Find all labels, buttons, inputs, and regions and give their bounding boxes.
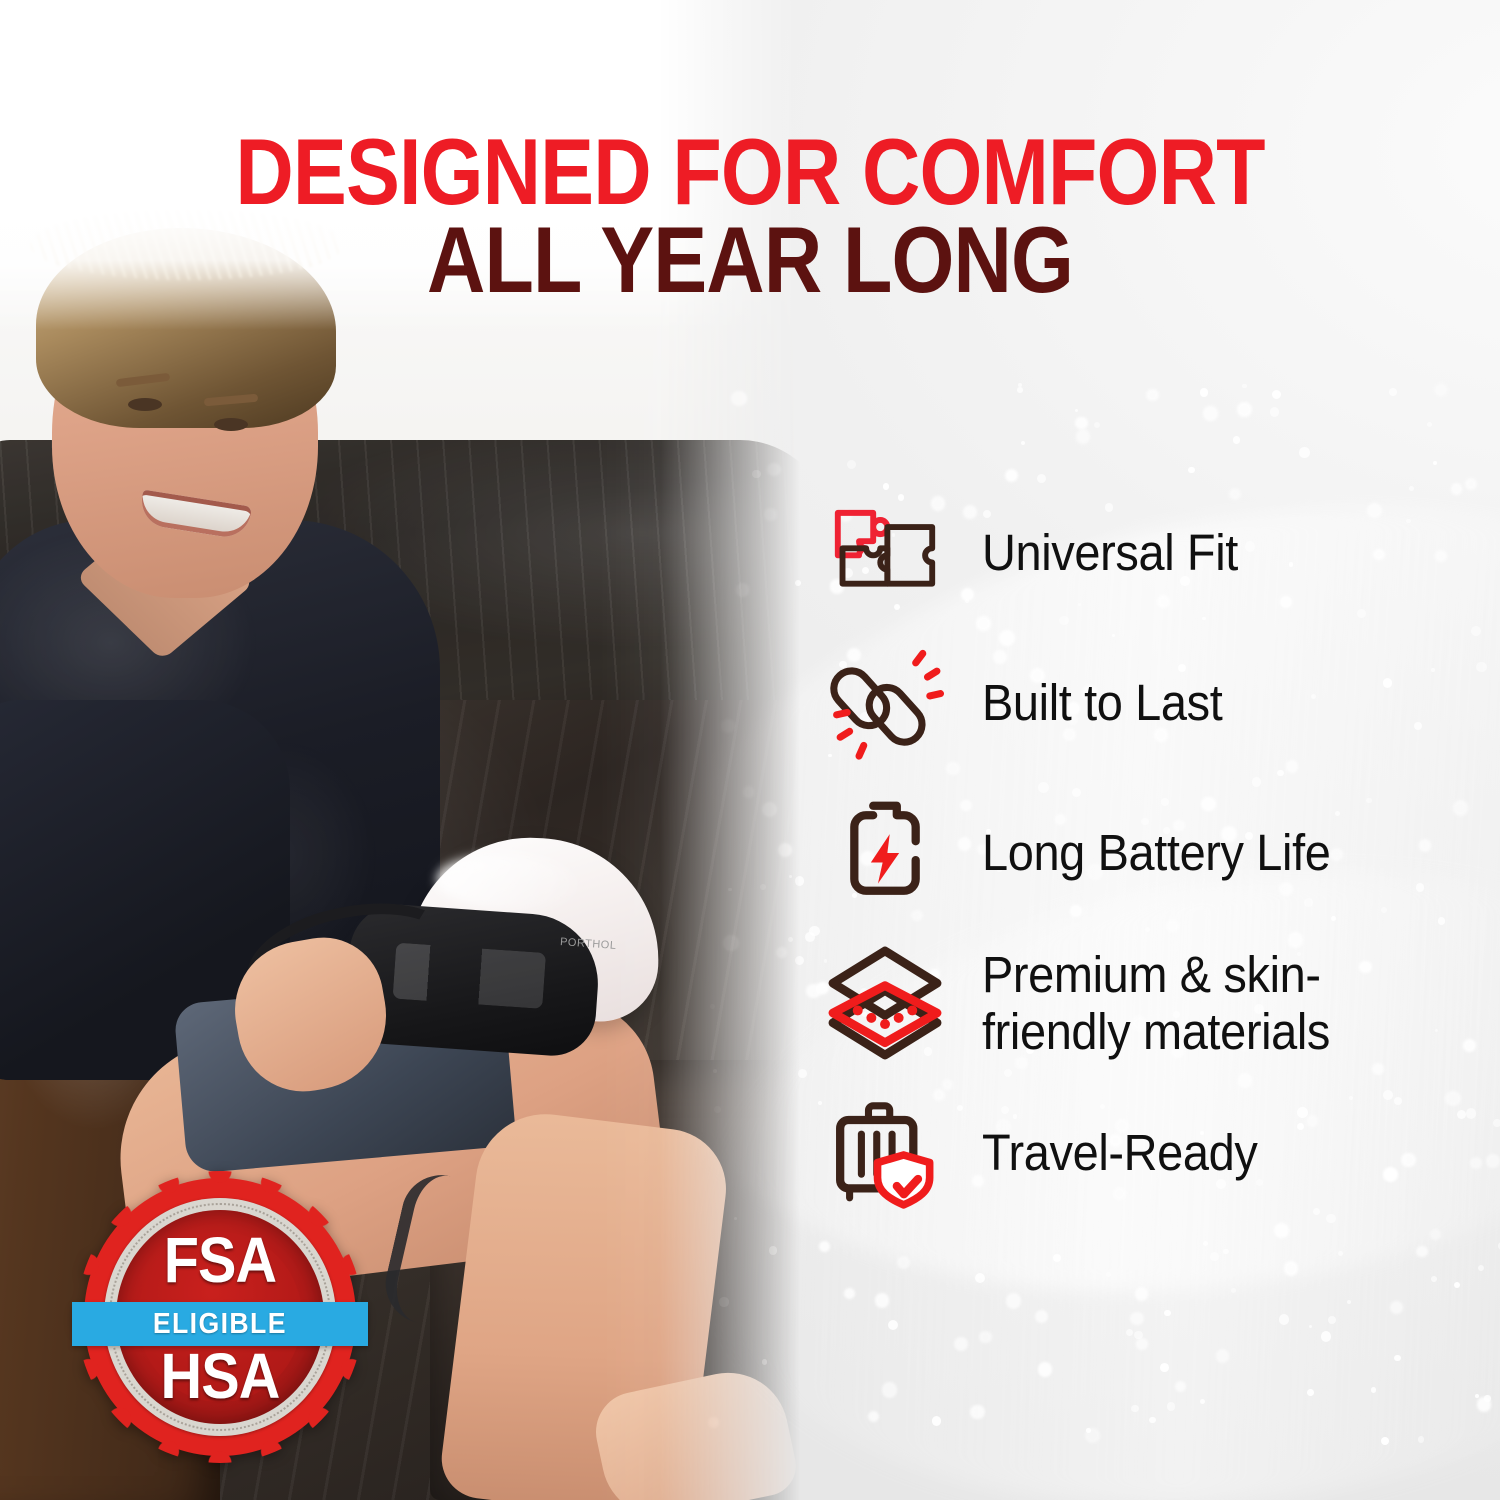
feature-item: Built to Last [820,628,1460,778]
feature-label: Travel-Ready [982,1124,1257,1181]
battery-icon [820,788,950,918]
suitcase-shield-icon [820,1088,950,1218]
model-eye-left [128,398,162,411]
feature-item: Universal Fit [820,478,1460,628]
feature-label: Built to Last [982,674,1222,731]
feature-item: Travel-Ready [820,1078,1460,1228]
badge-eligible-band: ELIGIBLE [72,1302,368,1346]
feature-list: Universal Fit [820,478,1460,1228]
feature-label: Universal Fit [982,524,1238,581]
model-eye-right [214,418,248,431]
badge-fsa-text: FSA [98,1228,343,1292]
product-feature-card: PORTHOL DESIGNED FOR COMFORT ALL YEAR LO… [0,0,1500,1500]
puzzle-icon [820,488,950,618]
fsa-hsa-eligible-badge: FSA HSA ELIGIBLE [84,1178,356,1456]
chain-icon [820,638,950,768]
badge-eligible-text: ELIGIBLE [153,1308,287,1341]
feature-item: Premium & skin- friendly materials [820,928,1460,1078]
feature-label: Premium & skin- friendly materials [982,946,1330,1060]
headline-line-1: DESIGNED FOR COMFORT [105,128,1395,216]
feature-label: Long Battery Life [982,824,1330,881]
badge-hsa-text: HSA [98,1344,343,1408]
headline-line-2: ALL YEAR LONG [105,216,1395,304]
layers-icon [820,938,950,1068]
headline: DESIGNED FOR COMFORT ALL YEAR LONG [0,128,1500,305]
feature-item: Long Battery Life [820,778,1460,928]
